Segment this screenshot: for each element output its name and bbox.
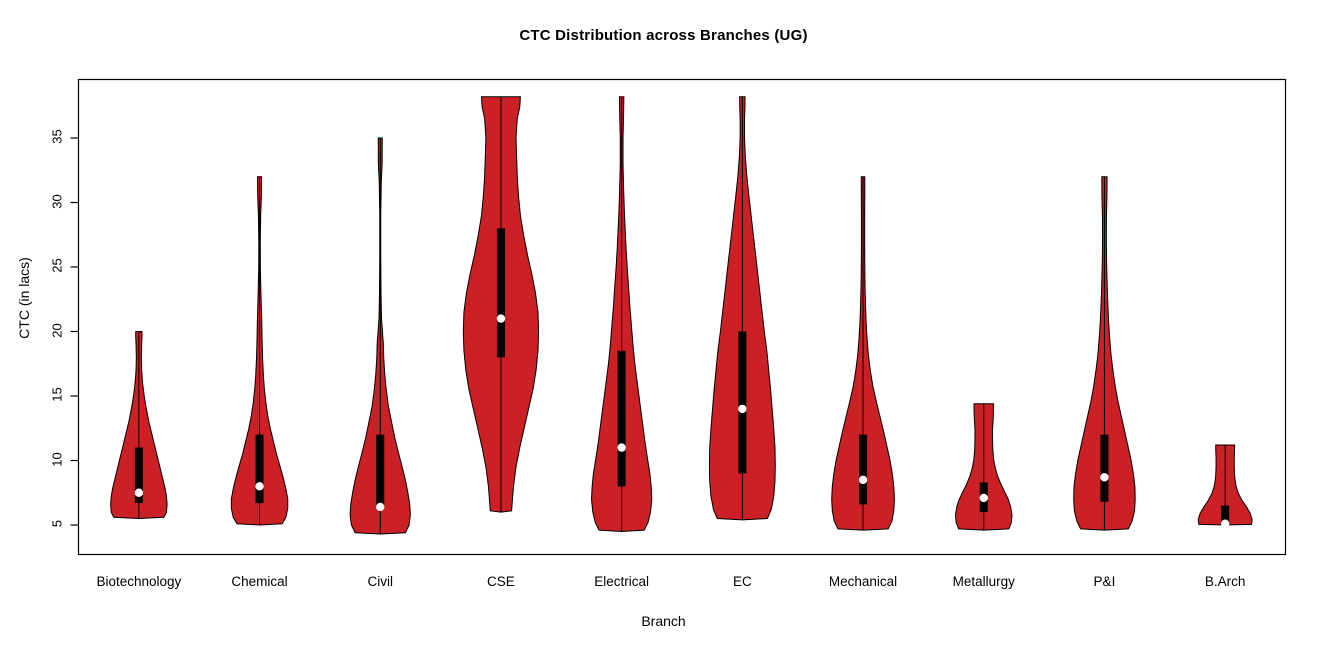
violin-metallurgy[interactable] bbox=[956, 404, 1012, 530]
x-tick-label-b-arch: B.Arch bbox=[1205, 574, 1246, 589]
iqr-box bbox=[859, 435, 867, 505]
y-tick-label: 30 bbox=[49, 186, 64, 216]
median-point bbox=[859, 476, 867, 484]
violin-civil[interactable] bbox=[350, 138, 410, 534]
violins-group bbox=[111, 97, 1253, 534]
iqr-box bbox=[1100, 435, 1108, 502]
x-tick-label-metallurgy: Metallurgy bbox=[953, 574, 1015, 589]
median-point bbox=[497, 314, 505, 322]
median-point bbox=[1100, 473, 1108, 481]
violin-p-i[interactable] bbox=[1074, 177, 1136, 530]
median-point bbox=[376, 503, 384, 511]
y-tick-label: 35 bbox=[49, 122, 64, 152]
x-tick-label-electrical: Electrical bbox=[594, 574, 649, 589]
violin-cse[interactable] bbox=[463, 97, 538, 512]
median-point bbox=[255, 482, 263, 490]
violin-plot-figure: CTC Distribution across Branches (UG) CT… bbox=[0, 0, 1327, 653]
x-tick-label-p-i: P&I bbox=[1094, 574, 1116, 589]
violin-b-arch[interactable] bbox=[1198, 445, 1252, 528]
iqr-box bbox=[376, 435, 384, 509]
plot-canvas bbox=[0, 0, 1327, 653]
iqr-box bbox=[497, 228, 505, 357]
x-tick-label-cse: CSE bbox=[487, 574, 515, 589]
median-point bbox=[1221, 520, 1229, 528]
y-tick-label: 25 bbox=[49, 251, 64, 281]
x-tick-label-civil: Civil bbox=[368, 574, 394, 589]
x-tick-label-ec: EC bbox=[733, 574, 752, 589]
x-tick-label-biotechnology: Biotechnology bbox=[96, 574, 181, 589]
y-tick-label: 20 bbox=[49, 315, 64, 345]
violin-biotechnology[interactable] bbox=[111, 332, 167, 519]
x-tick-label-chemical: Chemical bbox=[231, 574, 287, 589]
violin-electrical[interactable] bbox=[592, 97, 652, 532]
y-tick-label: 10 bbox=[49, 444, 64, 474]
median-point bbox=[738, 405, 746, 413]
median-point bbox=[135, 489, 143, 497]
violin-chemical[interactable] bbox=[231, 177, 287, 525]
iqr-box bbox=[256, 435, 264, 503]
iqr-box bbox=[738, 332, 746, 474]
iqr-box bbox=[618, 351, 626, 486]
x-tick-label-mechanical: Mechanical bbox=[829, 574, 897, 589]
violin-mechanical[interactable] bbox=[832, 177, 895, 530]
median-point bbox=[980, 494, 988, 502]
median-point bbox=[617, 443, 625, 451]
violin-ec[interactable] bbox=[709, 97, 775, 520]
y-tick-label: 15 bbox=[49, 380, 64, 410]
y-tick-label: 5 bbox=[49, 509, 64, 539]
